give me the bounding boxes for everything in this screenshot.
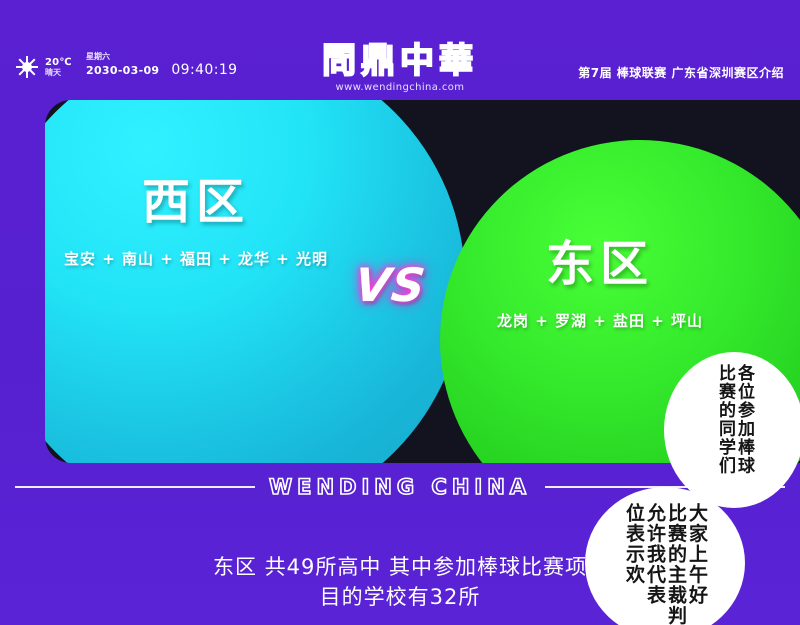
bubble-2-column-2: 比赛的主裁判 [666, 503, 685, 625]
bubble-2-column-4: 位表示欢 [624, 503, 643, 585]
east-title: 东区 [450, 240, 750, 288]
speech-bubble-greeting: 各位参加棒球 比赛的同学们 [664, 352, 800, 508]
brand-url: www.wendingchina.com [0, 82, 800, 93]
west-panel-label: 西区 宝安 + 南山 + 福田 + 龙华 + 光明 [46, 178, 346, 269]
brand-name: 問鼎中華 [322, 44, 478, 78]
bubble-1-column-1: 各位参加棒球 [735, 364, 752, 475]
bubble-2-column-1: 大家上午好 [687, 503, 706, 606]
bubble-1-column-2: 比赛的同学们 [716, 364, 733, 475]
poster-stage: 20℃ 晴天 星期六 2030-03-09 09:40:19 問鼎中華 www.… [0, 0, 800, 625]
east-panel-label: 东区 龙岗 + 罗湖 + 盐田 + 坪山 [450, 240, 750, 331]
divider-text: WENDING CHINA [269, 475, 531, 499]
header-subtitle: 第7届 棒球联赛 广东省深圳赛区介绍 [578, 64, 784, 81]
speech-bubble-referee: 大家上午好 比赛的主裁判 允许我代表 位表示欢 [585, 487, 745, 625]
west-districts: 宝安 + 南山 + 福田 + 龙华 + 光明 [46, 248, 346, 269]
header-bar: 20℃ 晴天 星期六 2030-03-09 09:40:19 問鼎中華 www.… [0, 0, 800, 110]
vs-label: VS [352, 258, 428, 312]
west-title: 西区 [46, 178, 346, 226]
east-districts: 龙岗 + 罗湖 + 盐田 + 坪山 [450, 310, 750, 331]
bubble-2-column-3: 允许我代表 [645, 503, 664, 606]
divider-line-left [15, 486, 255, 488]
